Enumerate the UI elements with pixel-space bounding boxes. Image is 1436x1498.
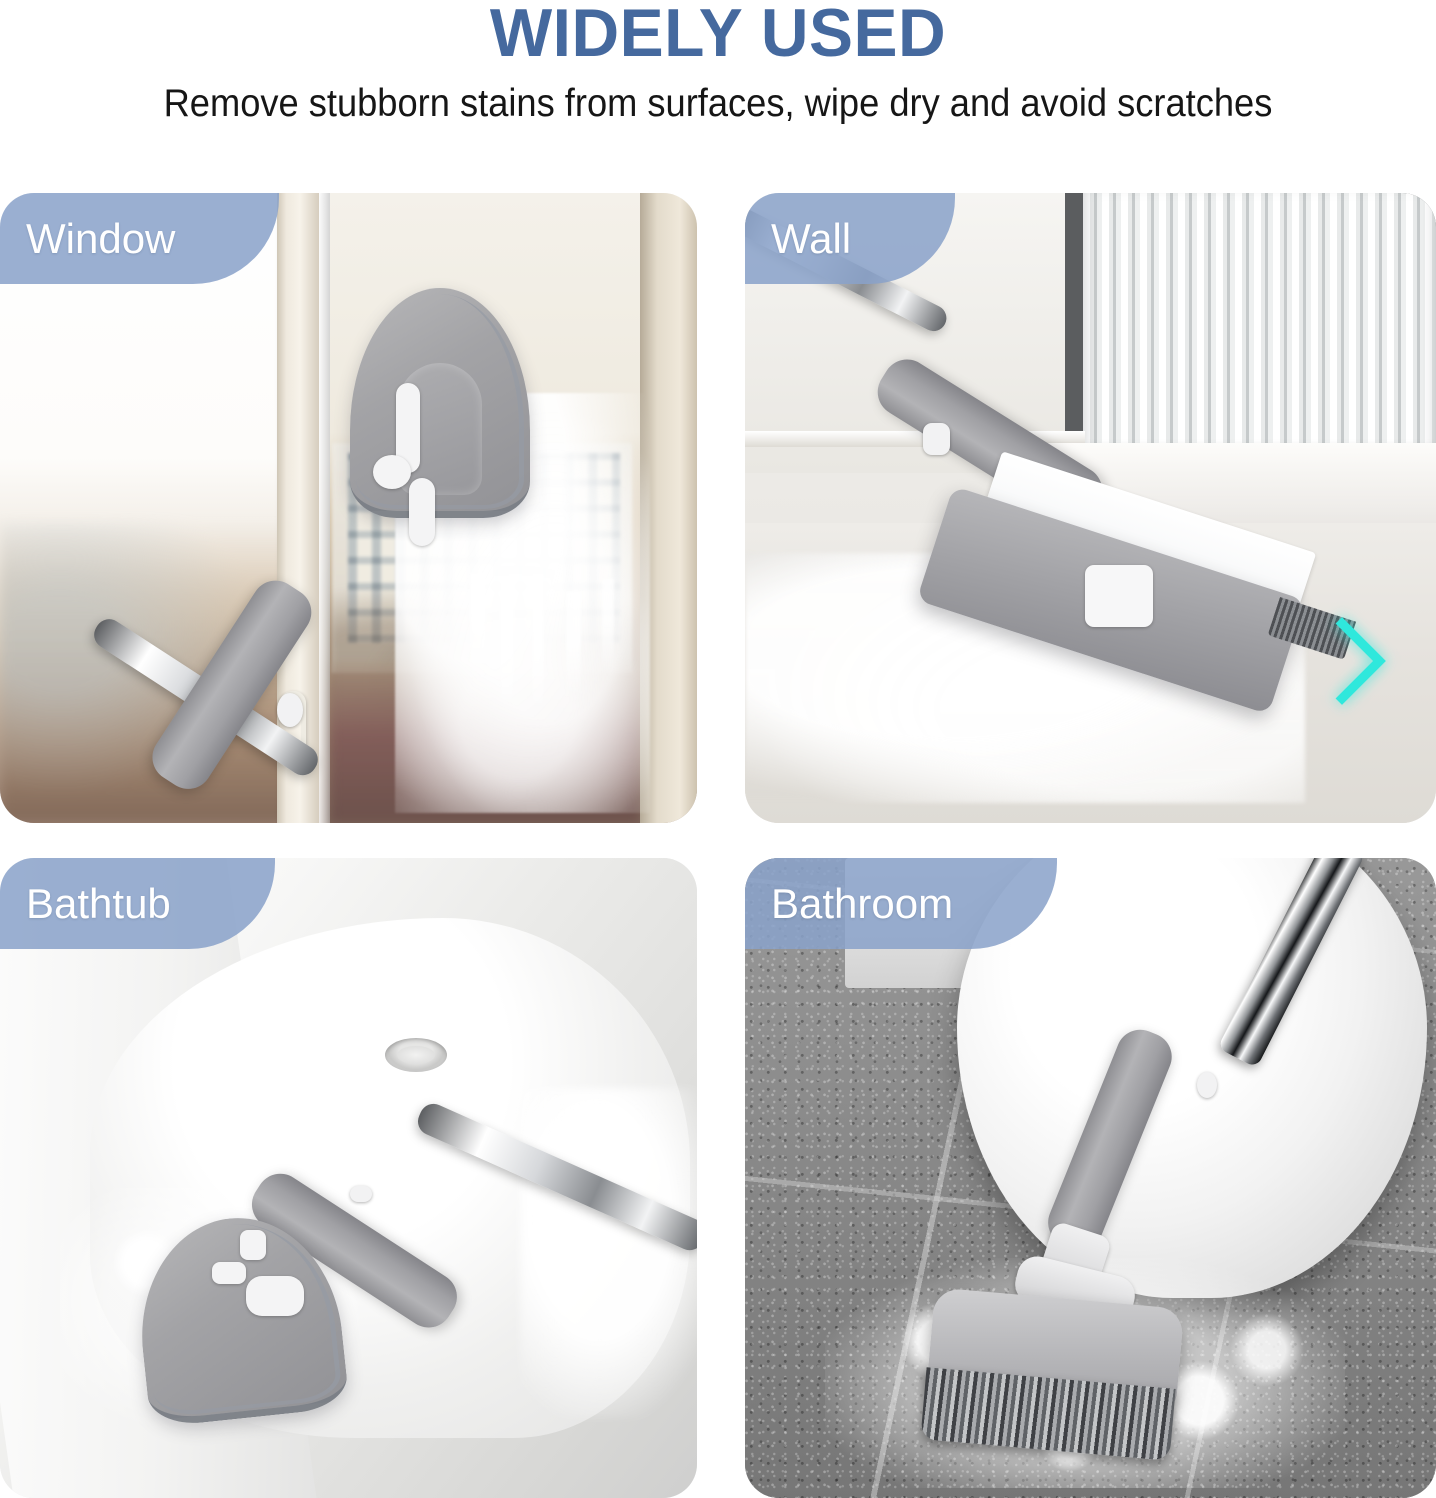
panel-label-bathroom: Bathroom (745, 858, 1057, 949)
window-pad-clip-lower (409, 478, 435, 546)
bathtub-release-button (350, 1186, 372, 1202)
bathtub-pad-clip-top (240, 1230, 266, 1260)
bathtub-drain (385, 1038, 447, 1072)
panel-bathtub[interactable]: Bathtub (0, 858, 697, 1498)
panel-label-bathtub: Bathtub (0, 858, 275, 949)
bathtub-pad-clip-mid (212, 1262, 246, 1284)
wall-head-latch (1085, 565, 1153, 627)
panel-label-window: Window (0, 193, 279, 284)
window-glass-edge (319, 193, 330, 823)
product-infographic: WIDELY USED Remove stubborn stains from … (0, 0, 1436, 1498)
window-pad-clip-round (373, 455, 411, 489)
panel-bathroom[interactable]: Bathroom (745, 858, 1436, 1498)
use-case-grid: Window Wall (0, 193, 1436, 1498)
page-subtitle: Remove stubborn stains from surfaces, wi… (50, 80, 1385, 128)
bathtub-highlight (520, 1088, 697, 1418)
page-title: WIDELY USED (22, 0, 1415, 70)
bathtub-pad-clip-lower (246, 1276, 304, 1316)
panel-wall[interactable]: Wall (745, 193, 1436, 823)
window-release-button (277, 693, 303, 727)
window-soap-drips (470, 573, 660, 783)
bathroom-release-button (1197, 1072, 1217, 1098)
wall-release-button (923, 423, 950, 455)
panel-window[interactable]: Window (0, 193, 697, 823)
